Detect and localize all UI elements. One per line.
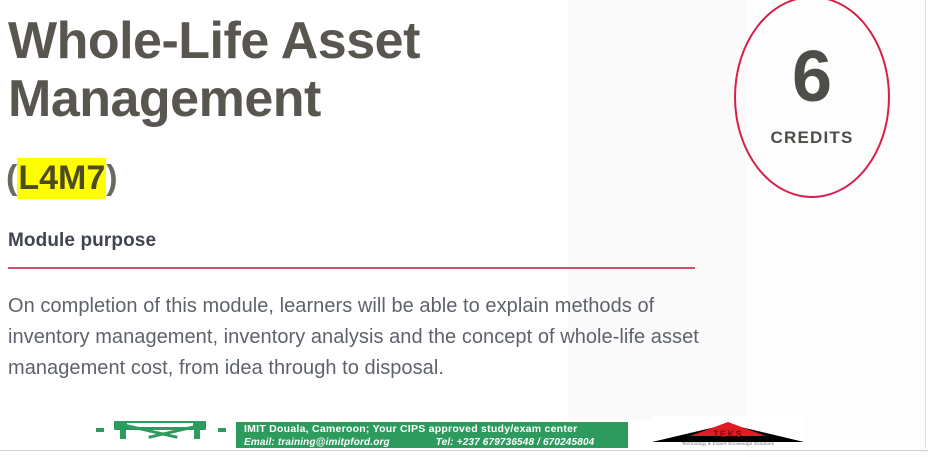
logo-foot-left-icon [120, 430, 126, 439]
teks-logo-icon: TEKS Technology & Expert Knowledge Solut… [652, 416, 804, 446]
logo-foot-right-icon [194, 430, 200, 439]
imit-logo-icon [96, 417, 228, 445]
module-code: (L4M7) [6, 158, 118, 198]
page-edge-bottom [0, 450, 928, 451]
logo-tick-left-icon [96, 428, 104, 432]
module-purpose-body: On completion of this module, learners w… [8, 291, 708, 384]
module-code-close-paren: ) [106, 159, 117, 197]
footer-email: Email: training@imitpford.org [244, 436, 390, 449]
module-code-highlight: L4M7 [17, 158, 106, 199]
page-edge-right [925, 0, 926, 449]
footer-banner-line2: Email: training@imitpford.org Tel: +237 … [244, 436, 622, 449]
section-divider-rule [8, 267, 695, 269]
module-code-open-paren: ( [6, 159, 17, 197]
module-purpose-heading: Module purpose [8, 229, 156, 253]
footer-strip: IMIT Douala, Cameroon; Your CIPS approve… [0, 414, 928, 450]
credits-label: CREDITS [734, 128, 890, 148]
teks-tagline: Technology & Expert Knowledge Solutions [652, 441, 804, 447]
footer-telephone: Tel: +237 679736548 / 670245804 [436, 436, 595, 449]
teks-wordmark: TEKS [652, 429, 804, 439]
page-title: Whole-Life Asset Management [8, 12, 568, 128]
logo-tick-right-icon [218, 428, 226, 432]
footer-contact-banner: IMIT Douala, Cameroon; Your CIPS approve… [236, 422, 628, 448]
footer-banner-line1: IMIT Douala, Cameroon; Your CIPS approve… [244, 423, 622, 436]
document-page: Whole-Life Asset Management (L4M7) Modul… [0, 0, 928, 457]
credits-number: 6 [734, 38, 890, 116]
